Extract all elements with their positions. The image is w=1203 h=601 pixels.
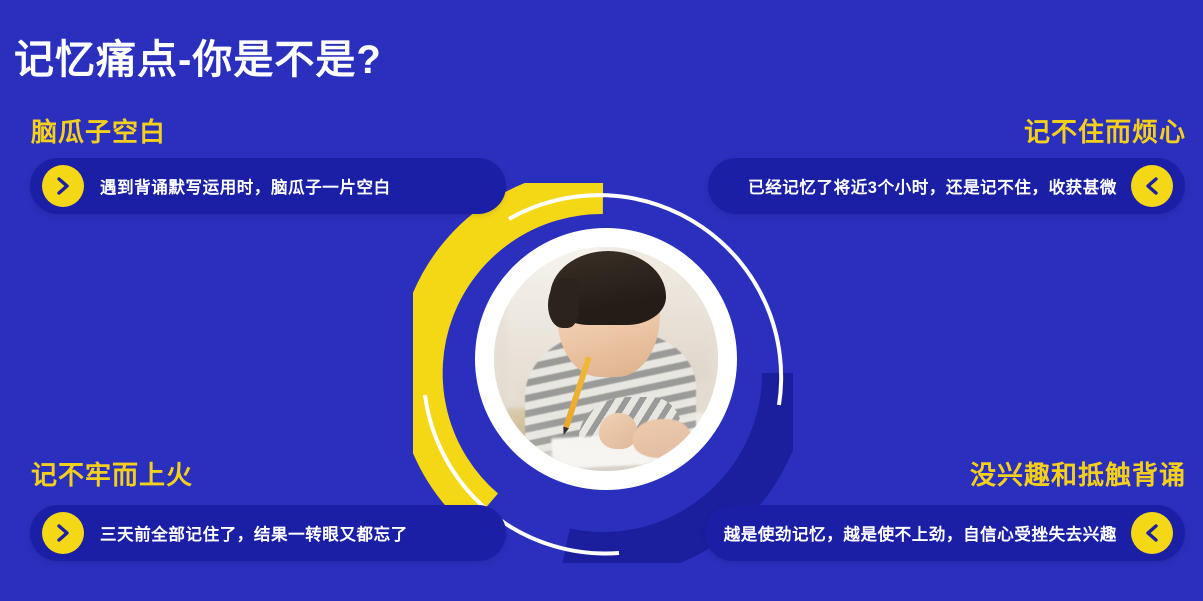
- slide-root: 记忆痛点-你是不是?: [0, 0, 1203, 601]
- quadrant-heading-top-right: 记不住而烦心: [1024, 112, 1186, 149]
- pain-point-text-top-left: 遇到背诵默写运用时，脑瓜子一片空白: [100, 174, 391, 198]
- pain-point-pill-top-left[interactable]: 遇到背诵默写运用时，脑瓜子一片空白: [30, 158, 506, 214]
- quadrant-heading-top-left: 脑瓜子空白: [31, 112, 166, 149]
- chevron-left-icon[interactable]: [1131, 165, 1173, 207]
- photo-boy-hand-right: [633, 419, 691, 457]
- page-title: 记忆痛点-你是不是?: [14, 38, 382, 82]
- pain-point-pill-bottom-right[interactable]: 越是使劲记忆，越是使不上劲，自信心受挫失去兴趣: [705, 505, 1185, 561]
- quadrant-heading-bottom-right: 没兴趣和抵触背诵: [970, 455, 1186, 492]
- chevron-right-icon[interactable]: [42, 165, 84, 207]
- center-photo: [494, 247, 718, 471]
- pain-point-text-bottom-right: 越是使劲记忆，越是使不上劲，自信心受挫失去兴趣: [724, 521, 1117, 545]
- pain-point-pill-top-right[interactable]: 已经记忆了将近3个小时，还是记不住，收获甚微: [708, 158, 1185, 214]
- pain-point-text-top-right: 已经记忆了将近3个小时，还是记不住，收获甚微: [748, 174, 1117, 198]
- photo-ring: [475, 228, 737, 490]
- photo-boy-hair-side: [548, 278, 579, 327]
- photo-boy-hand-left: [599, 413, 637, 449]
- chevron-left-icon[interactable]: [1131, 512, 1173, 554]
- pain-point-pill-bottom-left[interactable]: 三天前全部记住了，结果一转眼又都忘了: [30, 505, 506, 561]
- chevron-right-icon[interactable]: [42, 512, 84, 554]
- pain-point-text-bottom-left: 三天前全部记住了，结果一转眼又都忘了: [100, 521, 408, 545]
- quadrant-heading-bottom-left: 记不牢而上火: [31, 455, 193, 492]
